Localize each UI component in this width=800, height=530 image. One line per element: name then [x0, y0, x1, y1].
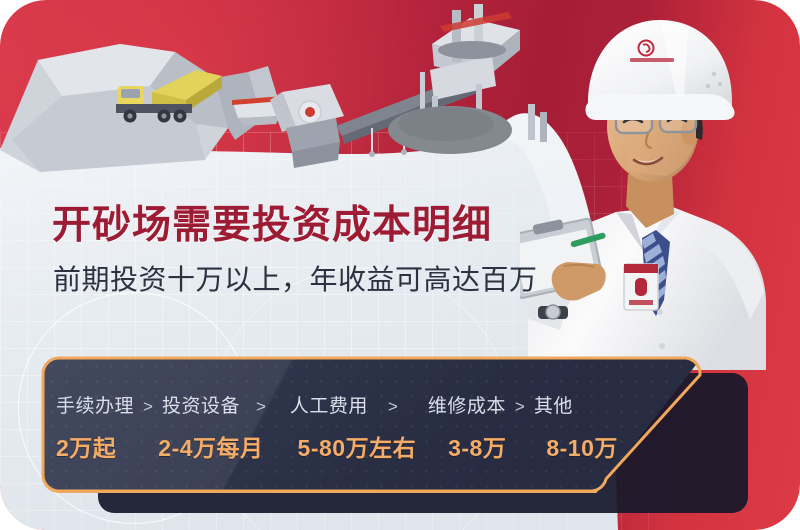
chevron-separator-0: >	[143, 397, 153, 417]
engineer-portrait	[520, 0, 782, 370]
promo-banner: 开砂场需要投资成本明细 前期投资十万以上，年收益可高达百万 手续办理 > 投资设…	[0, 0, 800, 530]
cost-label-2: 人工费用	[290, 391, 368, 418]
cost-rows: 手续办理 > 投资设备 > 人工费用 > 维修成本 > 其他 2万起 2-4万每…	[40, 355, 700, 491]
cost-labels-row: 手续办理 > 投资设备 > 人工费用 > 维修成本 > 其他	[56, 391, 573, 418]
cost-value-3: 3-8万	[448, 429, 506, 463]
cost-label-0: 手续办理	[56, 391, 134, 418]
sand-plant-illustration	[0, 0, 560, 200]
chevron-separator-2: >	[388, 397, 398, 417]
page-subtitle: 前期投资十万以上，年收益可高达百万	[53, 258, 538, 298]
cost-values-row: 2万起 2-4万每月 5-80万左右 3-8万 8-10万	[56, 429, 618, 463]
cost-breakdown-panel: 手续办理 > 投资设备 > 人工费用 > 维修成本 > 其他 2万起 2-4万每…	[40, 355, 760, 530]
chevron-separator-1: >	[256, 397, 266, 417]
page-title: 开砂场需要投资成本明细	[52, 194, 492, 250]
cost-label-4: 其他	[534, 391, 573, 418]
cost-value-0: 2万起	[56, 429, 116, 463]
cost-value-2: 5-80万左右	[298, 429, 417, 463]
cost-label-1: 投资设备	[162, 391, 240, 418]
cost-value-1: 2-4万每月	[158, 429, 263, 463]
chevron-separator-3: >	[515, 397, 525, 417]
cost-value-4: 8-10万	[546, 429, 618, 463]
cost-label-3: 维修成本	[428, 391, 506, 418]
